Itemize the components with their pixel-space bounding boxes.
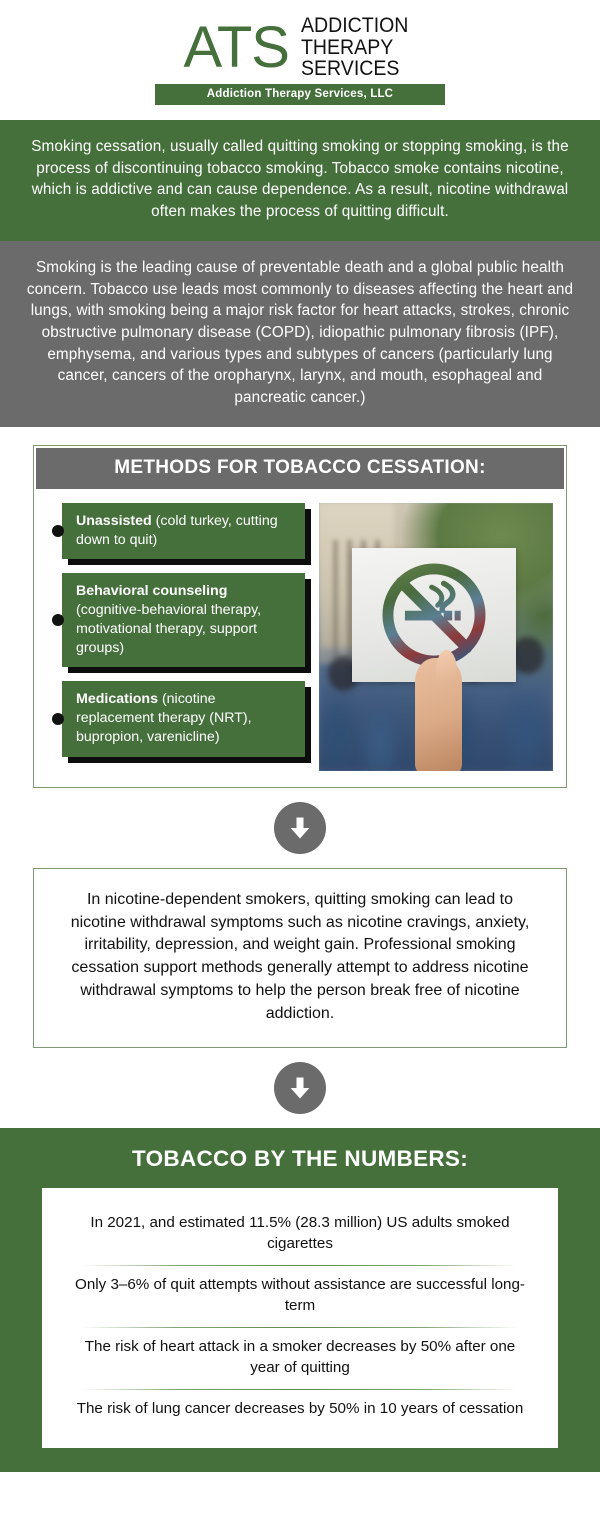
withdrawal-section: In nicotine-dependent smokers, quitting …	[0, 868, 600, 1048]
arrow-down-glyph	[286, 814, 314, 842]
bullet-dot-icon	[52, 525, 64, 537]
list-item[interactable]: Unassisted (cold turkey, cutting down to…	[47, 503, 305, 559]
logo-header: ATS ADDICTION THERAPY SERVICES Addiction…	[0, 0, 600, 120]
arrow-down-icon	[274, 802, 326, 854]
logo-word-line-3: SERVICES	[301, 58, 408, 79]
list-item[interactable]: Medications (nicotine replacement therap…	[47, 681, 305, 756]
arrow-down-glyph	[286, 1074, 314, 1102]
logo-row: ATS ADDICTION THERAPY SERVICES	[184, 15, 417, 79]
numbers-section: TOBACCO BY THE NUMBERS: In 2021, and est…	[0, 1128, 600, 1472]
logo-wordmark: ADDICTION THERAPY SERVICES	[301, 15, 408, 79]
thumb	[436, 650, 457, 690]
no-smoking-photo	[319, 503, 553, 771]
logo-lockup: ATS ADDICTION THERAPY SERVICES Addiction…	[155, 15, 445, 104]
methods-section: METHODS FOR TOBACCO CESSATION: Unassiste…	[0, 427, 600, 788]
logo-tagline: Addiction Therapy Services, LLC	[155, 84, 445, 105]
intro-gray-band: Smoking is the leading cause of preventa…	[0, 241, 600, 427]
method-label: Medications	[76, 691, 158, 707]
method-box: Behavioral counseling (cognitive-behavio…	[62, 573, 305, 667]
arrow-divider-2	[0, 1048, 600, 1128]
method-label: Behavioral counseling	[76, 583, 227, 599]
numbers-box: In 2021, and estimated 11.5% (28.3 milli…	[42, 1188, 558, 1448]
stat-item: Only 3–6% of quit attempts without assis…	[70, 1266, 530, 1327]
withdrawal-box: In nicotine-dependent smokers, quitting …	[33, 868, 567, 1048]
method-box: Medications (nicotine replacement therap…	[62, 681, 305, 756]
methods-body: Unassisted (cold turkey, cutting down to…	[34, 489, 566, 787]
stat-item: The risk of lung cancer decreases by 50%…	[70, 1390, 530, 1430]
stat-item: In 2021, and estimated 11.5% (28.3 milli…	[70, 1204, 530, 1265]
method-box: Unassisted (cold turkey, cutting down to…	[62, 503, 305, 559]
methods-card: METHODS FOR TOBACCO CESSATION: Unassiste…	[33, 445, 567, 788]
methods-list: Unassisted (cold turkey, cutting down to…	[47, 503, 305, 771]
stat-item: The risk of heart attack in a smoker dec…	[70, 1328, 530, 1389]
intro-green-band: Smoking cessation, usually called quitti…	[0, 120, 600, 241]
bullet-dot-icon	[52, 614, 64, 626]
logo-word-line-2: THERAPY	[301, 37, 408, 58]
numbers-title: TOBACCO BY THE NUMBERS:	[0, 1146, 600, 1188]
method-label: Unassisted	[76, 513, 152, 529]
logo-word-line-1: ADDICTION	[301, 15, 408, 36]
bullet-dot-icon	[52, 713, 64, 725]
list-item[interactable]: Behavioral counseling (cognitive-behavio…	[47, 573, 305, 667]
method-detail: (cognitive-behavioral therapy, motivatio…	[76, 602, 261, 655]
methods-title: METHODS FOR TOBACCO CESSATION:	[36, 448, 564, 489]
arrow-down-icon	[274, 1062, 326, 1114]
arrow-divider-1	[0, 788, 600, 868]
logo-acronym: ATS	[184, 20, 290, 75]
